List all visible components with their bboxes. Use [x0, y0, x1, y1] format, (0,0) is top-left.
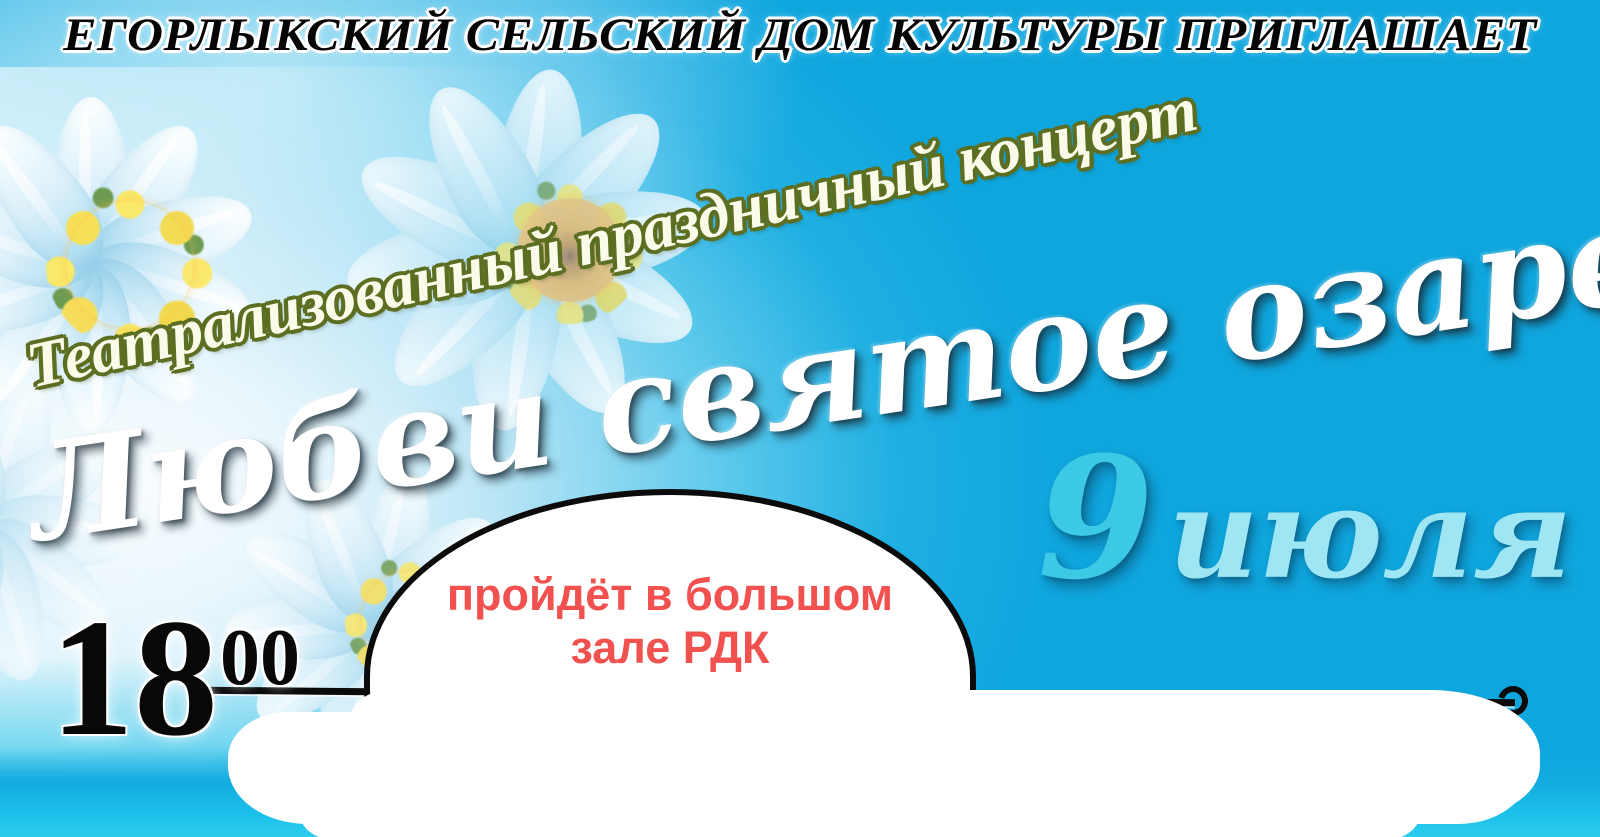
page-title: ЕГОРЛЫКСКИЙ СЕЛЬСКИЙ ДОМ КУЛЬТУРЫ ПРИГЛА…	[63, 8, 1536, 62]
header-band: ЕГОРЛЫКСКИЙ СЕЛЬСКИЙ ДОМ КУЛЬТУРЫ ПРИГЛА…	[0, 0, 1600, 70]
event-time-minutes: 00	[220, 618, 300, 698]
venue-callout-text: пройдёт в большом зале РДК	[447, 568, 893, 674]
event-date-day: 9	[1037, 446, 1154, 590]
event-poster: ЕГОРЛЫКСКИЙ СЕЛЬСКИЙ ДОМ КУЛЬТУРЫ ПРИГЛА…	[0, 0, 1600, 837]
white-paint-overlay-bottom	[300, 770, 1420, 837]
event-date: 9 июля	[1037, 446, 1572, 591]
event-date-month: июля	[1168, 479, 1572, 591]
event-time-hours: 18	[50, 610, 218, 748]
